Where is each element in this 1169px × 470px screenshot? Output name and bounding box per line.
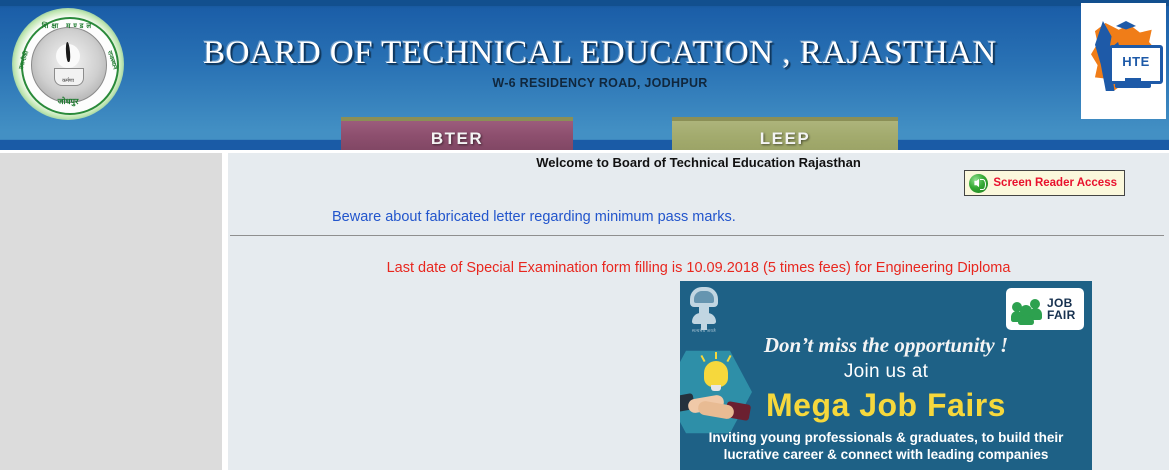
welcome-heading: Welcome to Board of Technical Education … — [228, 155, 1169, 170]
tab-bter[interactable]: BTER — [341, 117, 573, 150]
ashoka-emblem-icon: सत्यमेव जयते — [688, 287, 720, 339]
people-group-icon — [1011, 295, 1047, 323]
notice-red-text: Last date of Special Examination form fi… — [228, 260, 1169, 276]
screen-reader-access-button[interactable]: Screen Reader Access — [964, 170, 1125, 196]
site-header: शिक्षा मण्डल तकनीकी राजस्थान कर्मणा जोधप… — [0, 0, 1169, 150]
hte-logo-box[interactable]: HTE — [1081, 3, 1166, 119]
tab-leep[interactable]: LEEP — [672, 117, 898, 150]
content-divider — [230, 235, 1164, 236]
left-sidebar — [0, 153, 222, 470]
banner-headline: Mega Job Fairs — [680, 387, 1092, 424]
job-fair-logo: JOB FAIR — [1006, 288, 1084, 330]
page-root: शिक्षा मण्डल तकनीकी राजस्थान कर्मणा जोधप… — [0, 0, 1169, 470]
job-fair-logo-line2: FAIR — [1047, 308, 1076, 322]
header-top-strip — [0, 0, 1169, 6]
job-fair-logo-text: JOB FAIR — [1047, 297, 1076, 322]
hte-monitor-label: HTE — [1112, 48, 1160, 75]
banner-description: Inviting young professionals & graduates… — [680, 429, 1092, 463]
emblem-lions — [690, 287, 718, 307]
seal-text-bottom: जोधपुर — [12, 96, 124, 107]
banner-joinus: Join us at — [680, 361, 1092, 383]
seal-text-top: शिक्षा मण्डल — [12, 22, 124, 31]
emblem-caption: सत्यमेव जयते — [688, 328, 720, 332]
header-title-block: BOARD OF TECHNICAL EDUCATION , RAJASTHAN… — [150, 34, 1050, 90]
main-content: Welcome to Board of Technical Education … — [228, 153, 1169, 470]
screen-reader-access-label: Screen Reader Access — [993, 177, 1117, 189]
bter-seal-logo[interactable]: शिक्षा मण्डल तकनीकी राजस्थान कर्मणा जोधप… — [12, 8, 124, 120]
hte-monitor-base — [1115, 83, 1151, 88]
speaker-icon — [969, 174, 988, 193]
hte-logo-art: HTE — [1087, 19, 1161, 99]
mega-job-fairs-banner[interactable]: सत्यमेव जयते — [680, 281, 1092, 470]
page-title: BOARD OF TECHNICAL EDUCATION , RAJASTHAN — [150, 34, 1050, 72]
body-area: Welcome to Board of Technical Education … — [0, 153, 1169, 470]
notice-blue-link[interactable]: Beware about fabricated letter regarding… — [332, 209, 736, 225]
seal-micro-text: कर्मणा — [12, 78, 124, 84]
page-subtitle: W-6 RESIDENCY ROAD, JODHPUR — [150, 76, 1050, 90]
banner-tagline: Don’t miss the opportunity ! — [680, 333, 1092, 358]
